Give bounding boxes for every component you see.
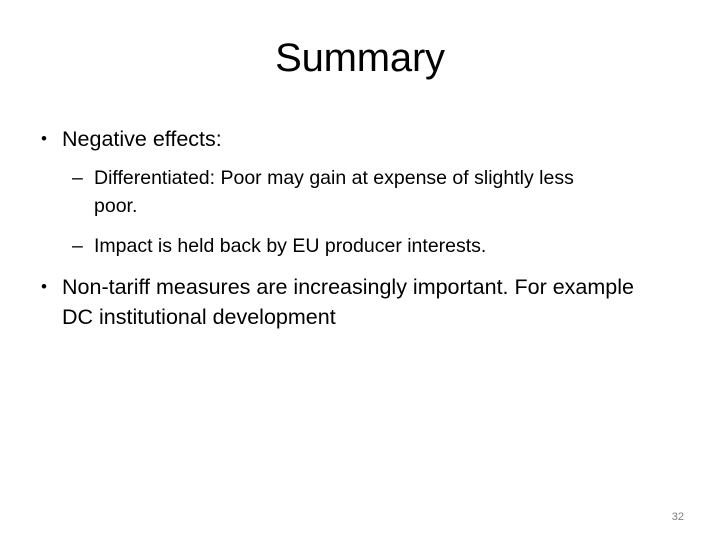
spacer	[36, 262, 684, 272]
spacer	[36, 222, 684, 232]
spacer	[36, 156, 684, 164]
page-number: 32	[672, 510, 684, 524]
list-item: – Differentiated: Poor may gain at expen…	[72, 164, 684, 220]
slide-body-content: • Negative effects: – Differentiated: Po…	[36, 124, 684, 334]
list-item-text: Non-tariff measures are increasingly imp…	[62, 272, 684, 332]
bullet-dash-icon: –	[72, 232, 94, 260]
page-title: Summary	[0, 34, 720, 82]
list-item: – Impact is held back by EU producer int…	[72, 232, 684, 260]
list-item: • Non-tariff measures are increasingly i…	[36, 272, 684, 332]
list-item: • Negative effects:	[36, 124, 684, 154]
bullet-dot-icon: •	[36, 124, 62, 154]
bullet-dot-icon: •	[36, 272, 62, 302]
slide-canvas: Summary • Negative effects: – Differenti…	[0, 0, 720, 540]
list-item-text: Differentiated: Poor may gain at expense…	[94, 164, 684, 220]
list-item-text: Impact is held back by EU producer inter…	[94, 232, 684, 260]
bullet-dash-icon: –	[72, 164, 94, 192]
list-item-text: Negative effects:	[62, 124, 684, 154]
